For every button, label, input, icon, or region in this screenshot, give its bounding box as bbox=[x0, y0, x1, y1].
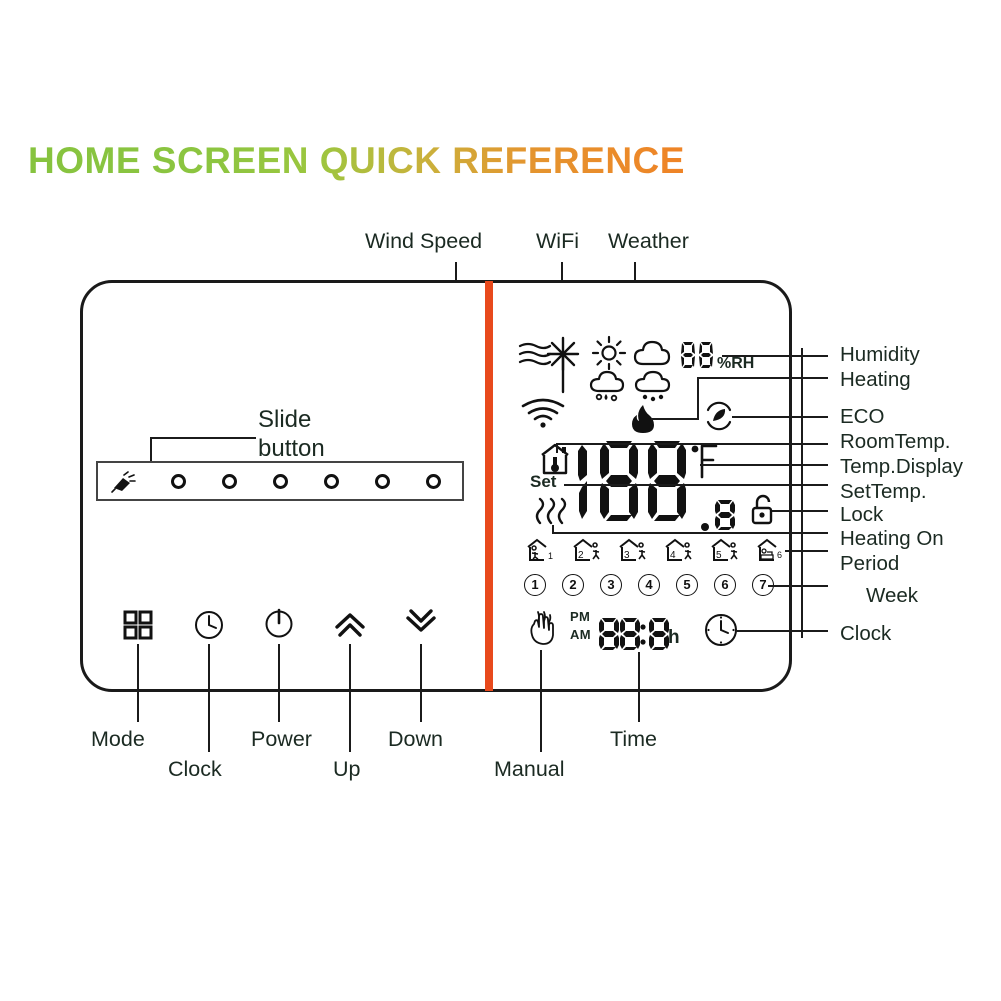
label-up: Up bbox=[333, 757, 360, 782]
label-lock: Lock bbox=[840, 503, 883, 527]
label-wind-speed: Wind Speed bbox=[365, 229, 482, 254]
leader-mode bbox=[137, 644, 139, 722]
week-day-4: 4 bbox=[638, 574, 660, 596]
am-label: AM bbox=[570, 627, 591, 642]
clock-button[interactable] bbox=[192, 608, 226, 642]
label-heating: Heating bbox=[840, 368, 911, 392]
mode-button[interactable] bbox=[121, 608, 155, 642]
cloud-icon bbox=[633, 340, 677, 368]
right-bus-line bbox=[801, 348, 803, 638]
label-manual: Manual bbox=[494, 757, 565, 782]
period-icon-2: 2 bbox=[572, 538, 606, 562]
label-set-temp: SetTemp. bbox=[840, 480, 927, 504]
route-heating-h1 bbox=[651, 418, 699, 420]
label-down: Down bbox=[388, 727, 443, 752]
slide-dot[interactable] bbox=[324, 474, 339, 489]
label-power: Power bbox=[251, 727, 312, 752]
svg-text:5: 5 bbox=[716, 550, 722, 561]
temperature-decimal bbox=[701, 497, 747, 533]
label-clock-lcd: Clock bbox=[840, 622, 891, 646]
svg-text:3: 3 bbox=[624, 550, 630, 561]
page-title: HOME SCREEN QUICK REFERENCE bbox=[28, 140, 685, 182]
pm-label: PM bbox=[570, 609, 590, 624]
label-mode: Mode bbox=[91, 727, 145, 752]
snow-cloud-icon bbox=[633, 372, 677, 404]
leader-down bbox=[420, 644, 422, 722]
route-clock-h bbox=[736, 630, 828, 632]
slide-dot[interactable] bbox=[222, 474, 237, 489]
week-day-2: 2 bbox=[562, 574, 584, 596]
slide-dot[interactable] bbox=[171, 474, 186, 489]
slide-button-label-line1: Slide bbox=[258, 405, 311, 434]
slide-button-label-line2: button bbox=[258, 434, 325, 463]
swipe-hand-icon bbox=[110, 471, 136, 495]
humidity-value bbox=[680, 340, 716, 370]
label-room-temp: RoomTemp. bbox=[840, 430, 951, 454]
leader-time bbox=[638, 652, 640, 722]
up-button[interactable] bbox=[333, 608, 367, 642]
time-unit: h bbox=[668, 627, 680, 649]
week-day-5: 5 bbox=[676, 574, 698, 596]
route-settemp-h bbox=[564, 484, 828, 486]
eco-leaf-icon bbox=[704, 401, 734, 431]
svg-text:4: 4 bbox=[670, 550, 676, 561]
route-humidity-h bbox=[722, 355, 828, 357]
label-temp-display: Temp.Display bbox=[840, 455, 963, 479]
fan-wind-icon bbox=[518, 336, 584, 396]
route-heating-v bbox=[697, 378, 699, 420]
label-week: Week bbox=[866, 584, 918, 608]
slide-dot[interactable] bbox=[273, 474, 288, 489]
leader-power bbox=[278, 644, 280, 722]
period-icon-3: 3 bbox=[618, 538, 652, 562]
period-icon-5: 5 bbox=[710, 538, 744, 562]
label-heating-on: Heating On bbox=[840, 527, 944, 551]
label-humidity: Humidity bbox=[840, 343, 920, 367]
leader-up bbox=[349, 644, 351, 752]
slide-dot[interactable] bbox=[375, 474, 390, 489]
temperature-value bbox=[572, 437, 700, 529]
leader-slide-vert bbox=[150, 437, 152, 461]
leader-manual bbox=[540, 650, 542, 752]
week-day-1: 1 bbox=[524, 574, 546, 596]
manual-hand-icon bbox=[526, 610, 558, 646]
label-wifi: WiFi bbox=[536, 229, 579, 254]
label-eco: ECO bbox=[840, 405, 884, 429]
clock-face-icon bbox=[703, 612, 739, 648]
label-clock-key: Clock bbox=[168, 757, 222, 782]
time-value bbox=[598, 616, 676, 652]
heat-waves-icon bbox=[536, 497, 572, 525]
route-roomtemp-h bbox=[556, 443, 828, 445]
route-heating-h2 bbox=[697, 377, 828, 379]
svg-text:2: 2 bbox=[578, 550, 584, 561]
route-period-h bbox=[785, 550, 828, 552]
label-period: Period bbox=[840, 552, 899, 576]
route-week-h bbox=[768, 585, 828, 587]
rain-cloud-icon bbox=[589, 372, 631, 404]
route-lock-h bbox=[772, 510, 828, 512]
route-heatingon-h bbox=[552, 532, 828, 534]
svg-text:1: 1 bbox=[548, 551, 553, 561]
leader-slide-horz bbox=[150, 437, 256, 439]
down-button[interactable] bbox=[404, 608, 438, 642]
svg-text:6: 6 bbox=[777, 550, 782, 560]
orange-divider bbox=[485, 281, 493, 691]
leader-clock-key bbox=[208, 644, 210, 752]
power-button[interactable] bbox=[262, 606, 296, 640]
period-icon-1: 1 bbox=[526, 538, 560, 562]
set-label: Set bbox=[530, 472, 556, 492]
label-weather: Weather bbox=[608, 229, 689, 254]
week-day-6: 6 bbox=[714, 574, 736, 596]
temperature-unit bbox=[690, 443, 720, 483]
route-eco-h bbox=[732, 416, 828, 418]
week-day-3: 3 bbox=[600, 574, 622, 596]
slide-dot[interactable] bbox=[426, 474, 441, 489]
humidity-unit: %RH bbox=[717, 355, 754, 373]
route-tempdisplay-h bbox=[700, 464, 828, 466]
wifi-icon bbox=[521, 398, 565, 428]
period-icon-4: 4 bbox=[664, 538, 698, 562]
slide-button-bar[interactable] bbox=[96, 461, 464, 501]
label-time: Time bbox=[610, 727, 657, 752]
sun-icon bbox=[592, 336, 626, 370]
